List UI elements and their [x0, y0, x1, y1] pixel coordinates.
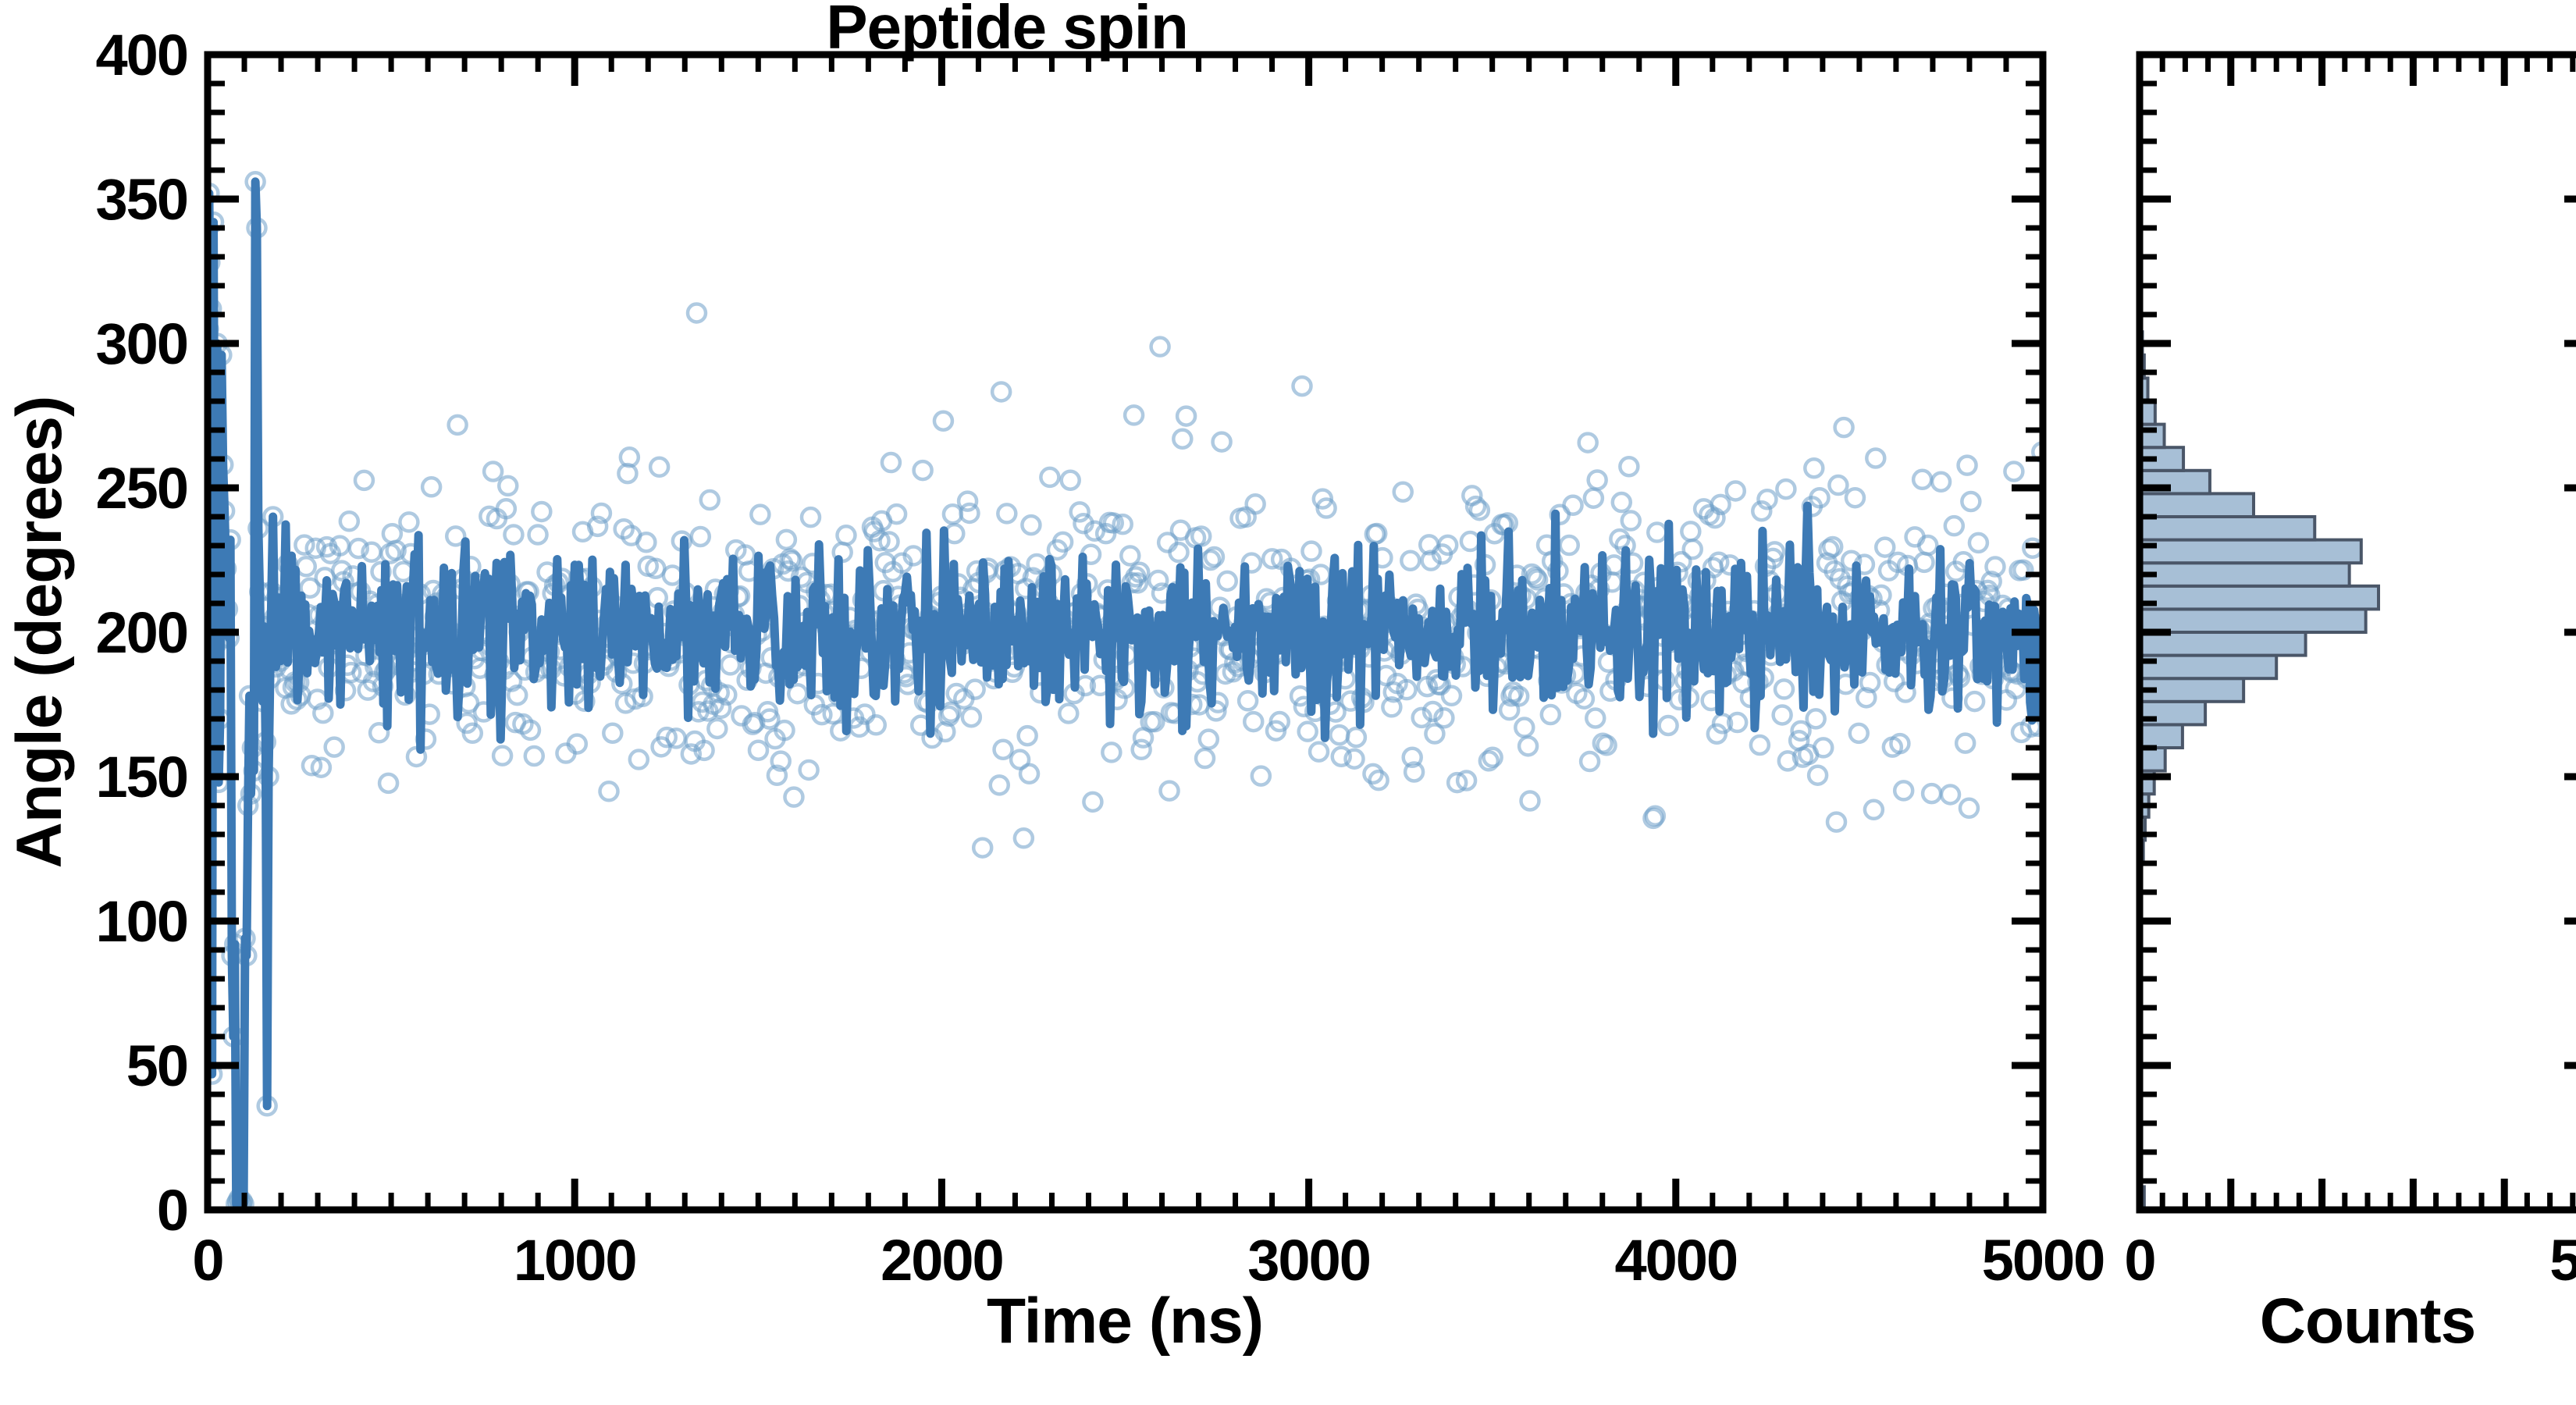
y-tick-label: 0	[157, 1178, 187, 1243]
histogram-bar	[2140, 517, 2314, 540]
y-tick-label: 100	[96, 889, 187, 954]
y-tick-label: 200	[96, 600, 187, 665]
histogram-bar	[2140, 493, 2254, 517]
x-tick-label: 5000	[1982, 1228, 2105, 1293]
y-tick-label: 50	[126, 1033, 187, 1098]
plot-title: Peptide spin	[826, 0, 1188, 62]
x-tick-label: 2000	[881, 1228, 1003, 1293]
y-tick-label: 150	[96, 745, 187, 809]
histogram-x-tick-label: 0	[2124, 1228, 2154, 1293]
x-axis-label: Time (ns)	[987, 1286, 1263, 1357]
x-tick-label: 1000	[514, 1228, 636, 1293]
y-tick-label: 250	[96, 456, 187, 521]
plot-svg: 0100020003000400050000501001502002503003…	[0, 0, 2576, 1405]
y-axis-label: Angle (degrees)	[4, 397, 75, 869]
x-tick-label: 0	[192, 1228, 222, 1293]
histogram-bar	[2140, 540, 2361, 564]
y-tick-label: 350	[96, 167, 187, 232]
y-tick-label: 300	[96, 311, 187, 376]
x-tick-label: 3000	[1247, 1228, 1370, 1293]
y-tick-label: 400	[96, 23, 187, 87]
figure-canvas: 0100020003000400050000501001502002503003…	[0, 0, 2576, 1405]
histogram-bar	[2140, 609, 2366, 632]
histogram-x-tick-label: 500	[2549, 1228, 2576, 1293]
histogram-bar	[2140, 656, 2276, 679]
histogram-bar	[2140, 586, 2379, 610]
histogram-bar	[2140, 724, 2183, 748]
histogram-x-axis-label: Counts	[2260, 1286, 2475, 1357]
histogram-bar	[2140, 563, 2350, 586]
x-tick-label: 4000	[1614, 1228, 1737, 1293]
histogram-bar	[2140, 748, 2165, 771]
